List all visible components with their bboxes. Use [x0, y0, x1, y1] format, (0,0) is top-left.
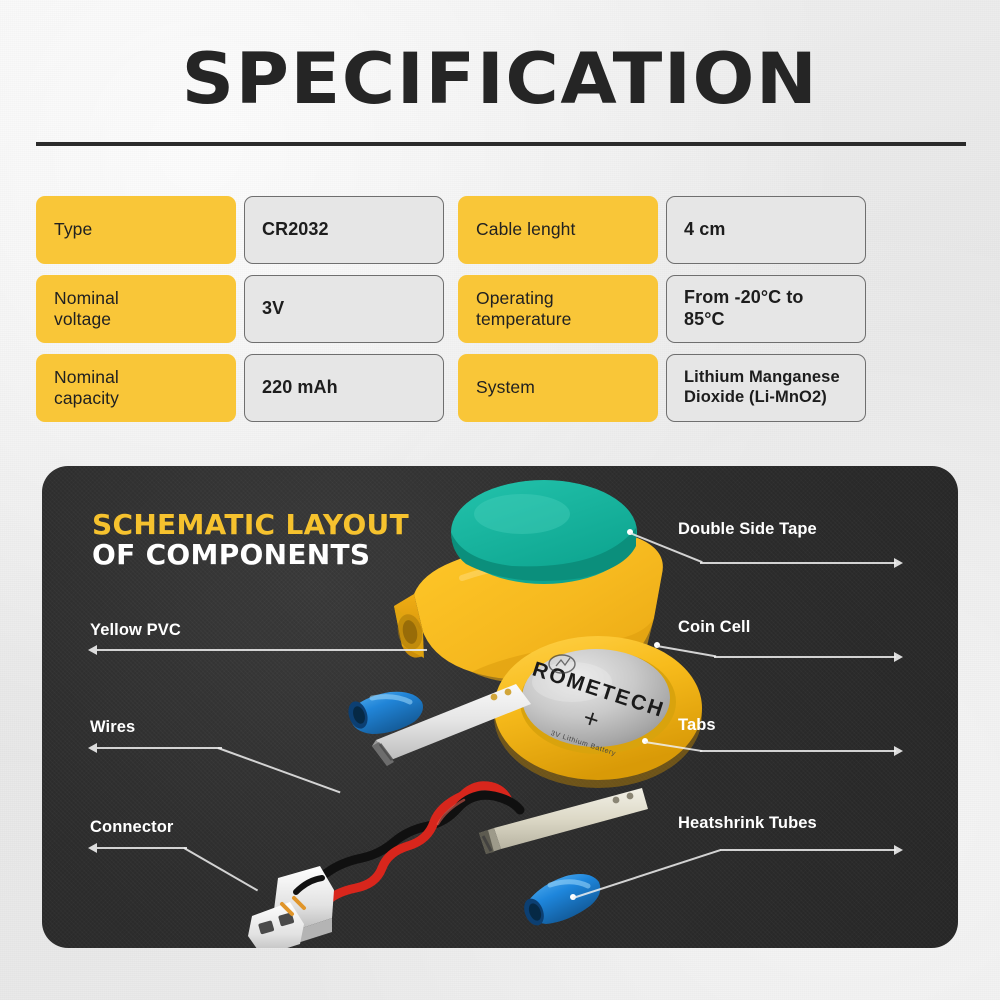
page-title: SPECIFICATION [0, 44, 1000, 114]
spec-value-operating-temperature: From -20°C to 85°C [666, 275, 866, 343]
spec-value-system: Lithium Manganese Dioxide (Li-MnO2) [666, 354, 866, 422]
leader-line-tabs [700, 750, 896, 752]
heatshrink-tube-lower-part [520, 874, 600, 928]
callout-label-tabs: Tabs [678, 716, 716, 735]
spec-label-nominal-voltage: Nominal voltage [36, 275, 236, 343]
leader-line-yellow-pvc [97, 649, 427, 651]
schematic-panel: ROMETECH + 3V Lithium Battery [42, 466, 958, 948]
connector-part [248, 866, 334, 948]
spec-label-nominal-capacity: Nominal capacity [36, 354, 236, 422]
spec-value-cable-length: 4 cm [666, 196, 866, 264]
callout-label-yellow-pvc: Yellow PVC [90, 621, 181, 640]
schematic-heading-line1: SCHEMATIC LAYOUT [92, 510, 409, 540]
leader-arrow-tabs [894, 746, 903, 756]
spec-label-cable-length: Cable lenght [458, 196, 658, 264]
spec-label-operating-temperature: Operating temperature [458, 275, 658, 343]
spec-label-type: Type [36, 196, 236, 264]
cell-gap [658, 275, 666, 343]
leader-arrow-connector [88, 843, 97, 853]
cell-gap [658, 354, 666, 422]
infographic-page: SPECIFICATION Type CR2032 Nominal voltag… [0, 0, 1000, 1000]
leader-line-wires [97, 747, 222, 749]
schematic-heading: SCHEMATIC LAYOUT OF COMPONENTS [92, 510, 409, 570]
leader-arrow-double-side-tape [894, 558, 903, 568]
cell-gap [236, 196, 244, 264]
spec-column-left: Type CR2032 Nominal voltage 3V Nominal c… [36, 196, 444, 264]
cell-gap [236, 275, 244, 343]
column-gap [444, 196, 458, 264]
callout-label-double-side-tape: Double Side Tape [678, 520, 817, 539]
leader-arrow-yellow-pvc [88, 645, 97, 655]
leader-line-coin-cell [714, 656, 896, 658]
double-side-tape-part [451, 480, 637, 584]
callout-label-heatshrink-tubes: Heatshrink Tubes [678, 814, 817, 833]
leader-line-tape [700, 562, 896, 564]
spec-column-right: Cable lenght 4 cm Operating temperature … [458, 196, 866, 264]
leader-line-heatshrink [720, 849, 896, 851]
leader-line-connector [97, 847, 187, 849]
title-divider [36, 142, 966, 146]
specification-table: Type CR2032 Nominal voltage 3V Nominal c… [36, 196, 966, 264]
leader-arrow-coin-cell [894, 652, 903, 662]
spec-value-type: CR2032 [244, 196, 444, 264]
spec-value-nominal-capacity: 220 mAh [244, 354, 444, 422]
spec-value-nominal-voltage: 3V [244, 275, 444, 343]
coin-cell-part: ROMETECH + 3V Lithium Battery [494, 636, 702, 788]
cell-gap [236, 354, 244, 422]
schematic-heading-line2: OF COMPONENTS [92, 540, 409, 570]
leader-arrow-heatshrink-tubes [894, 845, 903, 855]
callout-label-coin-cell: Coin Cell [678, 618, 750, 637]
callout-label-connector: Connector [90, 818, 173, 837]
callout-label-wires: Wires [90, 718, 135, 737]
spec-label-system: System [458, 354, 658, 422]
leader-arrow-wires [88, 743, 97, 753]
cell-gap [658, 196, 666, 264]
